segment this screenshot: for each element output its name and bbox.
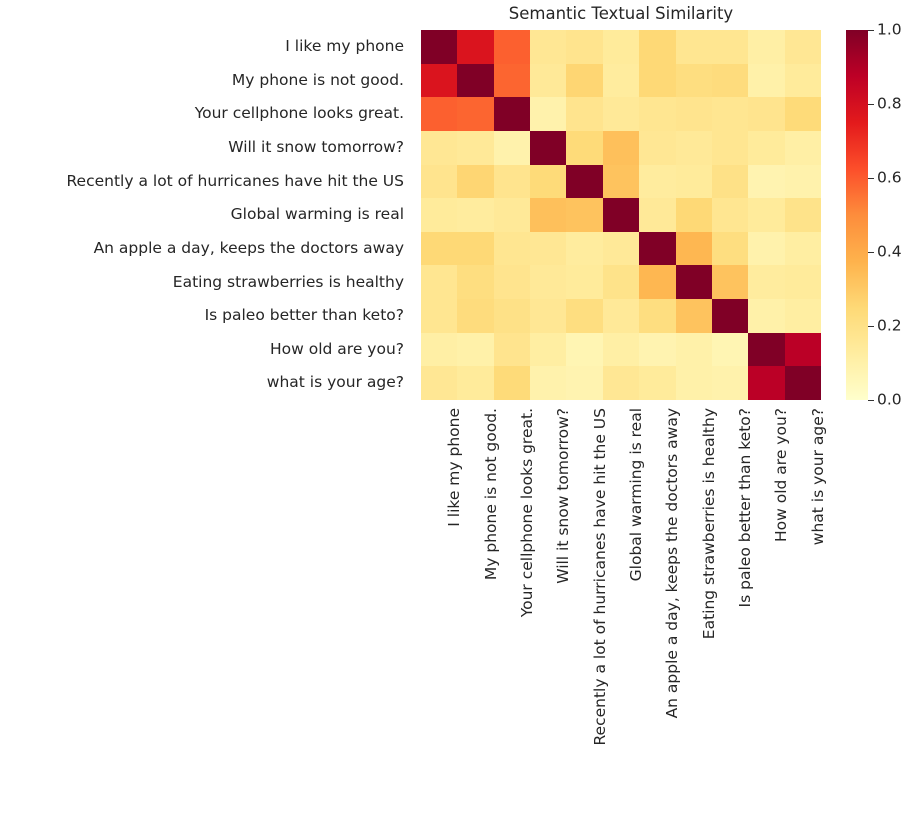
heatmap-cell bbox=[676, 366, 712, 400]
y-tick-label: An apple a day, keeps the doctors away bbox=[0, 232, 412, 266]
heatmap-cell bbox=[712, 198, 748, 232]
heatmap-cell bbox=[566, 97, 602, 131]
heatmap-cell bbox=[676, 64, 712, 98]
heatmap-cell bbox=[712, 64, 748, 98]
heatmap-cell bbox=[457, 265, 493, 299]
heatmap-cell bbox=[712, 299, 748, 333]
heatmap-cell bbox=[494, 366, 530, 400]
heatmap-cell bbox=[457, 232, 493, 266]
x-tick-label: Recently a lot of hurricanes have hit th… bbox=[566, 400, 602, 820]
heatmap-cell bbox=[566, 64, 602, 98]
heatmap-figure: Semantic Textual Similarity I like my ph… bbox=[0, 0, 915, 826]
heatmap-cell bbox=[530, 232, 566, 266]
heatmap-cell bbox=[530, 366, 566, 400]
heatmap-cell bbox=[603, 165, 639, 199]
heatmap-cell bbox=[639, 333, 675, 367]
x-tick-label: I like my phone bbox=[421, 400, 457, 820]
heatmap-cell bbox=[676, 131, 712, 165]
heatmap-cell bbox=[785, 232, 821, 266]
colorbar-tick-label: 1.0 bbox=[877, 22, 902, 38]
heatmap-cell bbox=[494, 265, 530, 299]
heatmap-cell bbox=[639, 366, 675, 400]
heatmap-cell bbox=[712, 97, 748, 131]
heatmap-cell bbox=[566, 198, 602, 232]
heatmap-cell bbox=[457, 198, 493, 232]
heatmap-cell bbox=[748, 165, 784, 199]
y-axis-tick-labels: I like my phoneMy phone is not good.Your… bbox=[0, 30, 412, 400]
heatmap-cell bbox=[748, 198, 784, 232]
heatmap-cell bbox=[421, 30, 457, 64]
heatmap-cell bbox=[785, 97, 821, 131]
heatmap-cell bbox=[785, 198, 821, 232]
heatmap-cell bbox=[748, 232, 784, 266]
heatmap-cell bbox=[457, 366, 493, 400]
heatmap-cell bbox=[566, 333, 602, 367]
heatmap-cell bbox=[676, 30, 712, 64]
heatmap-cell bbox=[748, 299, 784, 333]
colorbar-tick-mark bbox=[868, 252, 874, 253]
heatmap-cell bbox=[785, 333, 821, 367]
heatmap-cell bbox=[676, 265, 712, 299]
heatmap-cell bbox=[676, 165, 712, 199]
colorbar-gradient bbox=[846, 30, 868, 400]
heatmap-cell bbox=[566, 232, 602, 266]
heatmap-cell bbox=[676, 232, 712, 266]
heatmap-cell bbox=[494, 333, 530, 367]
heatmap-cell bbox=[748, 97, 784, 131]
x-tick-label: Global warming is real bbox=[603, 400, 639, 820]
x-tick-label: Will it snow tomorrow? bbox=[530, 400, 566, 820]
heatmap-cell bbox=[421, 265, 457, 299]
colorbar-tick-mark bbox=[868, 30, 874, 31]
heatmap-cell bbox=[748, 265, 784, 299]
heatmap-cell bbox=[421, 131, 457, 165]
heatmap-cell bbox=[676, 198, 712, 232]
colorbar: 0.00.20.40.60.81.0 bbox=[846, 30, 914, 400]
heatmap-cell bbox=[785, 299, 821, 333]
heatmap-cell bbox=[494, 64, 530, 98]
heatmap-cell bbox=[639, 64, 675, 98]
x-tick-label: Is paleo better than keto? bbox=[712, 400, 748, 820]
y-tick-label: Will it snow tomorrow? bbox=[0, 131, 412, 165]
heatmap-cell bbox=[494, 165, 530, 199]
heatmap-grid bbox=[421, 30, 821, 400]
heatmap-cell bbox=[421, 232, 457, 266]
heatmap-cell bbox=[421, 366, 457, 400]
heatmap-cell bbox=[639, 198, 675, 232]
heatmap-cell bbox=[712, 333, 748, 367]
heatmap-cell bbox=[494, 131, 530, 165]
heatmap-cell bbox=[494, 97, 530, 131]
y-tick-label: My phone is not good. bbox=[0, 64, 412, 98]
heatmap-cell bbox=[603, 30, 639, 64]
x-tick-label: An apple a day, keeps the doctors away bbox=[639, 400, 675, 820]
heatmap-cell bbox=[639, 30, 675, 64]
heatmap-cell bbox=[530, 30, 566, 64]
colorbar-tick-label: 0.6 bbox=[877, 170, 902, 186]
heatmap-cell bbox=[603, 131, 639, 165]
heatmap-cell bbox=[530, 165, 566, 199]
heatmap-cell bbox=[530, 97, 566, 131]
heatmap-cell bbox=[457, 30, 493, 64]
heatmap-cell bbox=[421, 333, 457, 367]
heatmap-cell bbox=[457, 165, 493, 199]
heatmap-cell bbox=[785, 265, 821, 299]
heatmap-cell bbox=[566, 165, 602, 199]
colorbar-tick-label: 0.4 bbox=[877, 244, 902, 260]
heatmap-cell bbox=[639, 299, 675, 333]
colorbar-tick-label: 0.0 bbox=[877, 392, 902, 408]
heatmap-cell bbox=[530, 198, 566, 232]
heatmap-cell bbox=[457, 97, 493, 131]
heatmap-cell bbox=[676, 333, 712, 367]
heatmap-cell bbox=[639, 232, 675, 266]
heatmap-cell bbox=[457, 333, 493, 367]
heatmap-cell bbox=[603, 265, 639, 299]
x-axis-tick-labels: I like my phoneMy phone is not good.Your… bbox=[421, 400, 821, 820]
x-tick-label: How old are you? bbox=[748, 400, 784, 820]
heatmap-cell bbox=[712, 131, 748, 165]
y-tick-label: Global warming is real bbox=[0, 198, 412, 232]
heatmap-cell bbox=[712, 366, 748, 400]
heatmap-cell bbox=[566, 265, 602, 299]
heatmap-cell bbox=[712, 232, 748, 266]
heatmap-cell bbox=[639, 265, 675, 299]
x-tick-label: Your cellphone looks great. bbox=[494, 400, 530, 820]
heatmap-cell bbox=[457, 299, 493, 333]
y-tick-label: Recently a lot of hurricanes have hit th… bbox=[0, 165, 412, 199]
heatmap-cell bbox=[530, 131, 566, 165]
colorbar-tick-label: 0.2 bbox=[877, 318, 902, 334]
heatmap-cell bbox=[603, 299, 639, 333]
heatmap-cell bbox=[421, 198, 457, 232]
y-tick-label: Is paleo better than keto? bbox=[0, 299, 412, 333]
heatmap-cell bbox=[639, 165, 675, 199]
heatmap-cell bbox=[457, 64, 493, 98]
heatmap-cell bbox=[421, 97, 457, 131]
x-tick-label: what is your age? bbox=[785, 400, 821, 820]
heatmap-cell bbox=[494, 299, 530, 333]
x-tick-label: My phone is not good. bbox=[457, 400, 493, 820]
heatmap-cell bbox=[748, 366, 784, 400]
heatmap-cell bbox=[676, 97, 712, 131]
heatmap-cell bbox=[530, 64, 566, 98]
y-tick-label: Eating strawberries is healthy bbox=[0, 265, 412, 299]
heatmap-cell bbox=[494, 232, 530, 266]
colorbar-tick-mark bbox=[868, 326, 874, 327]
heatmap-cell bbox=[603, 64, 639, 98]
heatmap-cell bbox=[566, 131, 602, 165]
heatmap-cell bbox=[603, 198, 639, 232]
y-tick-label: I like my phone bbox=[0, 30, 412, 64]
heatmap-cell bbox=[421, 64, 457, 98]
heatmap-cell bbox=[494, 30, 530, 64]
x-tick-label: Eating strawberries is healthy bbox=[676, 400, 712, 820]
heatmap-cell bbox=[566, 366, 602, 400]
heatmap-cell bbox=[712, 265, 748, 299]
heatmap-cell bbox=[639, 97, 675, 131]
heatmap-cell bbox=[566, 299, 602, 333]
heatmap-cell bbox=[457, 131, 493, 165]
heatmap-cell bbox=[603, 333, 639, 367]
heatmap-cell bbox=[421, 299, 457, 333]
heatmap-cell bbox=[712, 30, 748, 64]
heatmap-cell bbox=[494, 198, 530, 232]
heatmap-cell bbox=[785, 131, 821, 165]
heatmap-cell bbox=[748, 64, 784, 98]
heatmap-cell bbox=[712, 165, 748, 199]
heatmap-cell bbox=[530, 333, 566, 367]
heatmap-cell bbox=[603, 232, 639, 266]
y-tick-label: How old are you? bbox=[0, 333, 412, 367]
heatmap-cell bbox=[785, 64, 821, 98]
colorbar-tick-mark bbox=[868, 400, 874, 401]
heatmap-cell bbox=[603, 97, 639, 131]
heatmap-cell bbox=[421, 165, 457, 199]
heatmap-cell bbox=[785, 30, 821, 64]
x-tick-label-text: what is your age? bbox=[811, 408, 827, 545]
heatmap-cell bbox=[530, 299, 566, 333]
chart-title: Semantic Textual Similarity bbox=[421, 4, 821, 23]
heatmap-cell bbox=[748, 333, 784, 367]
heatmap-cell bbox=[530, 265, 566, 299]
y-tick-label: what is your age? bbox=[0, 366, 412, 400]
heatmap-cell bbox=[639, 131, 675, 165]
heatmap-cell bbox=[603, 366, 639, 400]
heatmap-cell bbox=[748, 30, 784, 64]
heatmap-cell bbox=[785, 366, 821, 400]
heatmap-cell bbox=[785, 165, 821, 199]
heatmap-cell bbox=[566, 30, 602, 64]
heatmap-cell bbox=[676, 299, 712, 333]
colorbar-tick-mark bbox=[868, 104, 874, 105]
y-tick-label: Your cellphone looks great. bbox=[0, 97, 412, 131]
colorbar-tick-mark bbox=[868, 178, 874, 179]
colorbar-tick-label: 0.8 bbox=[877, 96, 902, 112]
heatmap-cell bbox=[748, 131, 784, 165]
